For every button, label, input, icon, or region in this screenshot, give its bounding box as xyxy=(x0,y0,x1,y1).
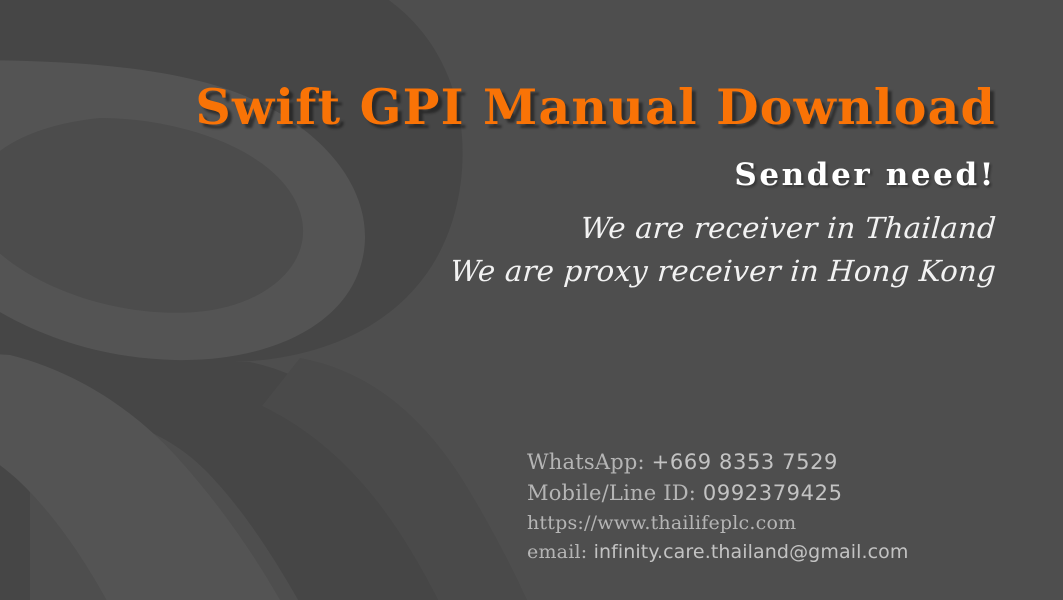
mobile-line-label: Mobile/Line ID: xyxy=(527,481,696,505)
whatsapp-value: +669 8353 7529 xyxy=(652,450,838,474)
contact-line-whatsapp: WhatsApp: +669 8353 7529 xyxy=(527,447,997,478)
whatsapp-label: WhatsApp: xyxy=(527,450,645,474)
contact-line-email[interactable]: email: infinity.care.thailand@gmail.com xyxy=(527,538,997,567)
email-value[interactable]: infinity.care.thailand@gmail.com xyxy=(594,541,909,563)
contact-block: WhatsApp: +669 8353 7529 Mobile/Line ID:… xyxy=(527,447,997,567)
script-lines-block: We are receiver in Thailand We are proxy… xyxy=(0,207,996,293)
contact-line-mobile: Mobile/Line ID: 0992379425 xyxy=(527,478,997,509)
script-line-2: We are proxy receiver in Hong Kong xyxy=(0,250,998,293)
mobile-line-value: 0992379425 xyxy=(703,481,843,505)
script-line-1: We are receiver in Thailand xyxy=(0,207,998,250)
contact-line-website[interactable]: https://www.thailifeplc.com xyxy=(527,509,997,538)
slide-content: Swift GPI Manual Download Sender need! W… xyxy=(0,0,1063,600)
page-title: Swift GPI Manual Download xyxy=(0,78,996,136)
slide-canvas: Swift GPI Manual Download Sender need! W… xyxy=(0,0,1063,600)
email-label: email: xyxy=(527,541,587,563)
subtitle: Sender need! xyxy=(0,155,996,195)
website-url[interactable]: https://www.thailifeplc.com xyxy=(527,512,796,534)
